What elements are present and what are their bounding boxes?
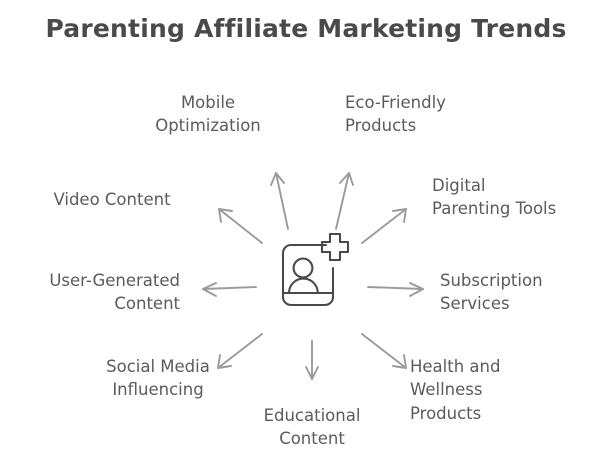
person-shoulders xyxy=(289,279,318,293)
arrow-down-right xyxy=(362,334,406,368)
arrow-up-right-outer xyxy=(362,209,406,243)
arrow-up-left xyxy=(271,173,288,229)
arrow-down xyxy=(306,341,318,379)
person-head xyxy=(294,259,313,278)
label-social-media-influencing: Social Media Influencing xyxy=(68,355,248,402)
medical-cross-icon xyxy=(322,234,348,260)
label-subscription-services: Subscription Services xyxy=(440,269,610,316)
label-user-generated-content: User-Generated Content xyxy=(8,269,180,316)
label-digital-parenting-tools: Digital Parenting Tools xyxy=(432,174,612,221)
label-educational-content: Educational Content xyxy=(232,404,392,451)
page-title: Parenting Affiliate Marketing Trends xyxy=(0,14,612,44)
arrow-up-right xyxy=(336,173,353,229)
label-eco-friendly-products: Eco-Friendly Products xyxy=(345,91,535,138)
label-mobile-optimization: Mobile Optimization xyxy=(128,91,288,138)
card-outline xyxy=(283,245,333,305)
arrow-left xyxy=(203,283,256,296)
label-health-wellness-products: Health and Wellness Products xyxy=(410,355,570,425)
diagram-canvas: Parenting Affiliate Marketing Trends xyxy=(0,0,612,460)
label-video-content: Video Content xyxy=(28,188,196,211)
person-card-medical-cross-icon xyxy=(283,234,348,305)
arrow-up-left-outer xyxy=(219,209,262,243)
arrow-right xyxy=(368,283,423,296)
